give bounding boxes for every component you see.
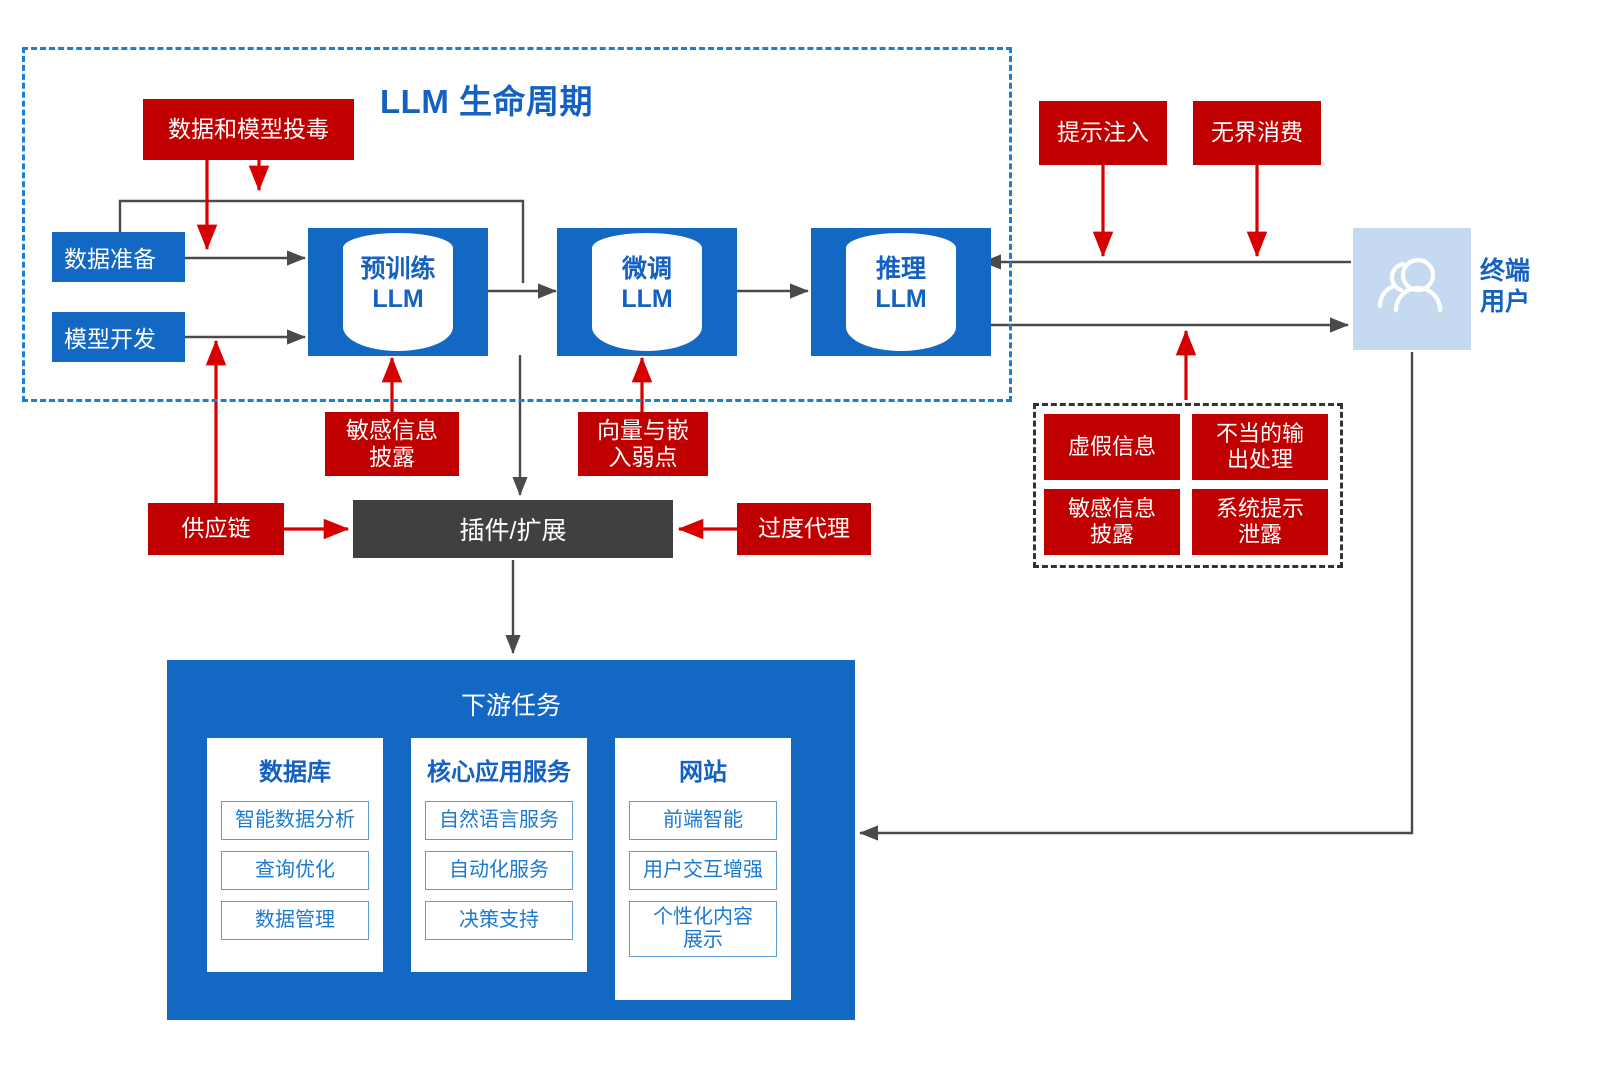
risk-line-1: 敏感信息	[1068, 496, 1156, 522]
threat-line-1: 向量与嵌	[597, 417, 689, 444]
llm-stage-sub: LLM	[343, 285, 453, 315]
downstream-column-core-app-services: 核心应用服务 自然语言服务 自动化服务 决策支持	[411, 738, 587, 972]
risk-line-2: 披露	[1090, 522, 1134, 548]
llm-stage-name: 预训练	[343, 255, 453, 285]
llm-stage-sub: LLM	[592, 285, 702, 315]
llm-stage-name: 推理	[846, 255, 956, 285]
column-heading: 网站	[629, 752, 777, 787]
threat-sensitive-information-disclosure[interactable]: 敏感信息 披露	[325, 412, 459, 476]
threat-vector-embedding-weakness[interactable]: 向量与嵌 入弱点	[578, 412, 708, 476]
list-item[interactable]: 自然语言服务	[425, 801, 573, 840]
downstream-tasks-title: 下游任务	[167, 686, 855, 722]
threat-data-model-poisoning[interactable]: 数据和模型投毒	[143, 99, 354, 160]
list-item[interactable]: 数据管理	[221, 901, 369, 940]
threat-supply-chain[interactable]: 供应链	[148, 503, 284, 555]
risk-system-prompt-leakage[interactable]: 系统提示 泄露	[1192, 489, 1328, 555]
threat-prompt-injection[interactable]: 提示注入	[1039, 101, 1167, 165]
risk-line-1: 系统提示	[1216, 496, 1304, 522]
stage-model-development[interactable]: 模型开发	[52, 312, 185, 362]
end-user-label-line2: 用户	[1480, 287, 1570, 318]
end-user-label-line1: 终端	[1480, 256, 1570, 287]
downstream-tasks-box: 下游任务 数据库 智能数据分析 查询优化 数据管理 核心应用服务 自然语言服务 …	[167, 660, 855, 1020]
page-title: LLM 生命周期	[380, 75, 680, 123]
stage-data-preparation[interactable]: 数据准备	[52, 232, 185, 282]
end-user-label: 终端 用户	[1480, 256, 1570, 317]
output-risks-group: 虚假信息 不当的输 出处理 敏感信息 披露 系统提示 泄露	[1044, 414, 1332, 557]
list-item[interactable]: 前端智能	[629, 801, 777, 840]
downstream-columns: 数据库 智能数据分析 查询优化 数据管理 核心应用服务 自然语言服务 自动化服务…	[207, 738, 815, 1000]
list-item[interactable]: 用户交互增强	[629, 851, 777, 890]
plugins-extensions-box[interactable]: 插件/扩展	[353, 500, 673, 558]
risk-line-1: 不当的输	[1216, 421, 1304, 447]
database-cylinder-icon: 预训练 LLM	[343, 233, 453, 351]
threat-line-1: 敏感信息	[346, 417, 438, 444]
list-item[interactable]: 决策支持	[425, 901, 573, 940]
risk-line-1: 虚假信息	[1068, 434, 1156, 460]
downstream-column-database: 数据库 智能数据分析 查询优化 数据管理	[207, 738, 383, 972]
list-item[interactable]: 自动化服务	[425, 851, 573, 890]
plugins-label: 插件/扩展	[460, 511, 567, 547]
threat-line-2: 披露	[369, 444, 415, 471]
threat-line-2: 入弱点	[609, 444, 678, 471]
threat-excessive-agency[interactable]: 过度代理	[737, 503, 871, 555]
risk-improper-output-handling[interactable]: 不当的输 出处理	[1192, 414, 1328, 480]
risk-line-2: 出处理	[1227, 447, 1293, 473]
list-item-line1: 个性化内容	[632, 906, 774, 929]
list-item[interactable]: 智能数据分析	[221, 801, 369, 840]
llm-stage-inference[interactable]: 推理 LLM	[811, 228, 991, 356]
risk-misinformation[interactable]: 虚假信息	[1044, 414, 1180, 480]
column-heading: 核心应用服务	[425, 752, 573, 787]
column-heading: 数据库	[221, 752, 369, 787]
users-icon	[1370, 254, 1454, 324]
list-item-line2: 展示	[632, 929, 774, 952]
list-item[interactable]: 查询优化	[221, 851, 369, 890]
threat-unbounded-consumption[interactable]: 无界消费	[1193, 101, 1321, 165]
database-cylinder-icon: 微调 LLM	[592, 233, 702, 351]
diagram-canvas: LLM 生命周期 数据和模型投毒 数据准备 模型开发 预训练 LLM 微调 LL…	[0, 0, 1600, 1073]
list-item[interactable]: 个性化内容 展示	[629, 901, 777, 957]
downstream-column-website: 网站 前端智能 用户交互增强 个性化内容 展示	[615, 738, 791, 1000]
llm-stage-sub: LLM	[846, 285, 956, 315]
risk-sensitive-information-disclosure[interactable]: 敏感信息 披露	[1044, 489, 1180, 555]
llm-stage-pretraining[interactable]: 预训练 LLM	[308, 228, 488, 356]
llm-stage-name: 微调	[592, 255, 702, 285]
llm-stage-finetuning[interactable]: 微调 LLM	[557, 228, 737, 356]
database-cylinder-icon: 推理 LLM	[846, 233, 956, 351]
risk-line-2: 泄露	[1238, 522, 1282, 548]
end-user-box[interactable]	[1353, 228, 1471, 350]
